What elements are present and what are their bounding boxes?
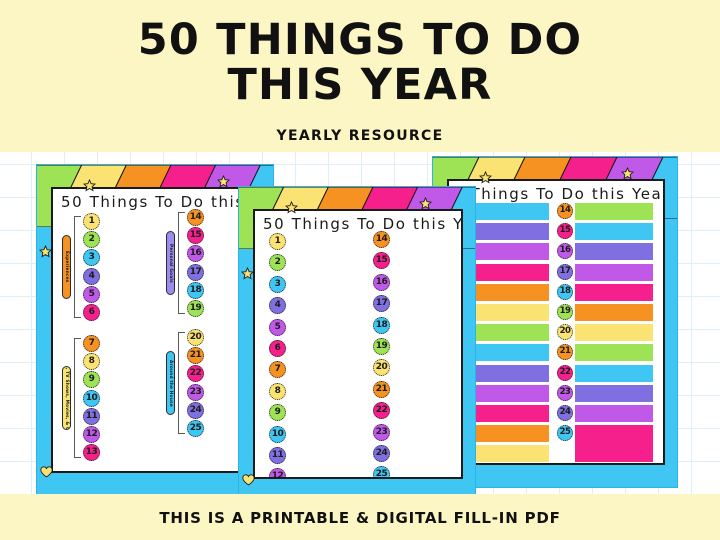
checklist-number-25[interactable]: 25 bbox=[373, 466, 390, 479]
page-subtitle: YEARLY RESOURCE bbox=[0, 128, 720, 144]
star-icon bbox=[83, 177, 96, 190]
printable-page[interactable]: 50 Things To Do this Year123456789101112… bbox=[253, 209, 463, 479]
checklist-number-23[interactable]: 23 bbox=[373, 424, 390, 441]
category-label: Personal Goals bbox=[166, 231, 175, 295]
checklist-number-4[interactable]: 4 bbox=[83, 268, 100, 285]
checklist-number-21[interactable]: 21 bbox=[373, 381, 390, 398]
checklist-number-2[interactable]: 2 bbox=[269, 254, 286, 271]
checklist-number-16[interactable]: 16 bbox=[557, 243, 573, 259]
checklist-number-5[interactable]: 5 bbox=[269, 319, 286, 336]
answer-bar[interactable] bbox=[575, 223, 653, 240]
checklist-number-8[interactable]: 8 bbox=[269, 383, 286, 400]
answer-bar[interactable] bbox=[465, 223, 549, 240]
group-bracket bbox=[178, 212, 185, 314]
answer-bar[interactable] bbox=[575, 385, 653, 402]
answer-bar[interactable] bbox=[575, 264, 653, 281]
checklist-number-20[interactable]: 20 bbox=[187, 329, 204, 346]
footer-caption: THIS IS A PRINTABLE & DIGITAL FILL-IN PD… bbox=[0, 509, 720, 527]
checklist-number-6[interactable]: 6 bbox=[83, 304, 100, 321]
answer-bar[interactable] bbox=[575, 324, 653, 341]
printable-page[interactable]: 0 Things To Do this Year1234567891011121… bbox=[447, 179, 665, 465]
checklist-number-16[interactable]: 16 bbox=[373, 274, 390, 291]
answer-bar[interactable] bbox=[465, 324, 549, 341]
checklist-number-15[interactable]: 15 bbox=[187, 227, 204, 244]
answer-bar[interactable] bbox=[575, 365, 653, 382]
answer-bar[interactable] bbox=[465, 203, 549, 220]
category-label: Books, TV Shows, Movies, & Games bbox=[62, 366, 71, 430]
answer-bar[interactable] bbox=[465, 284, 549, 301]
checklist-number-14[interactable]: 14 bbox=[557, 203, 573, 219]
checklist-number-21[interactable]: 21 bbox=[557, 344, 573, 360]
answer-bar[interactable] bbox=[465, 304, 549, 321]
checklist-number-18[interactable]: 18 bbox=[557, 284, 573, 300]
checklist-number-10[interactable]: 10 bbox=[83, 390, 100, 407]
checklist-number-25[interactable]: 25 bbox=[187, 420, 204, 437]
star-icon bbox=[479, 169, 492, 182]
checklist-number-23[interactable]: 23 bbox=[557, 385, 573, 401]
answer-bar[interactable] bbox=[465, 365, 549, 382]
checklist-number-1[interactable]: 1 bbox=[269, 233, 286, 250]
checklist-number-24[interactable]: 24 bbox=[187, 402, 204, 419]
checklist-number-20[interactable]: 20 bbox=[557, 324, 573, 340]
checklist-number-3[interactable]: 3 bbox=[83, 249, 100, 266]
answer-bar[interactable] bbox=[465, 425, 549, 442]
star-icon bbox=[285, 199, 298, 212]
answer-bar[interactable] bbox=[575, 425, 653, 462]
answer-bar[interactable] bbox=[465, 243, 549, 260]
checklist-number-10[interactable]: 10 bbox=[269, 426, 286, 443]
screenshot-stage: 50 Things To Do this Year123456Experienc… bbox=[0, 0, 720, 540]
printable-page[interactable]: 50 Things To Do this Year123456Experienc… bbox=[51, 187, 261, 473]
checklist-number-19[interactable]: 19 bbox=[373, 338, 390, 355]
answer-bar[interactable] bbox=[575, 344, 653, 361]
checklist-number-7[interactable]: 7 bbox=[83, 335, 100, 352]
checklist-number-11[interactable]: 11 bbox=[83, 408, 100, 425]
category-label: Experiences bbox=[62, 235, 71, 299]
checklist-number-2[interactable]: 2 bbox=[83, 231, 100, 248]
heart-icon bbox=[40, 463, 53, 475]
checklist-number-8[interactable]: 8 bbox=[83, 353, 100, 370]
checklist-number-15[interactable]: 15 bbox=[373, 252, 390, 269]
checklist-number-3[interactable]: 3 bbox=[269, 276, 286, 293]
checklist-number-17[interactable]: 17 bbox=[373, 295, 390, 312]
checklist-number-22[interactable]: 22 bbox=[557, 365, 573, 381]
checklist-number-18[interactable]: 18 bbox=[373, 317, 390, 334]
checklist-number-9[interactable]: 9 bbox=[269, 404, 286, 421]
checklist-number-19[interactable]: 19 bbox=[557, 304, 573, 320]
answer-bar[interactable] bbox=[465, 344, 549, 361]
category-label: Around the House bbox=[166, 351, 175, 415]
group-bracket bbox=[74, 216, 81, 318]
worksheet-heading: 50 Things To Do this Year bbox=[263, 215, 463, 233]
answer-bar[interactable] bbox=[465, 385, 549, 402]
checklist-number-17[interactable]: 17 bbox=[187, 264, 204, 281]
checklist-number-17[interactable]: 17 bbox=[557, 264, 573, 280]
checklist-number-1[interactable]: 1 bbox=[83, 213, 100, 230]
answer-bar[interactable] bbox=[575, 284, 653, 301]
star-icon bbox=[419, 195, 432, 208]
worksheet-heading: 50 Things To Do this Year bbox=[61, 193, 261, 211]
checklist-number-15[interactable]: 15 bbox=[557, 223, 573, 239]
checklist-number-14[interactable]: 14 bbox=[187, 209, 204, 226]
checklist-number-23[interactable]: 23 bbox=[187, 384, 204, 401]
checklist-number-6[interactable]: 6 bbox=[269, 340, 286, 357]
answer-bar[interactable] bbox=[575, 405, 653, 422]
star-icon bbox=[621, 165, 634, 178]
checklist-number-7[interactable]: 7 bbox=[269, 361, 286, 378]
checklist-number-4[interactable]: 4 bbox=[269, 297, 286, 314]
card-mid[interactable]: 50 Things To Do this Year123456789101112… bbox=[238, 186, 476, 504]
checklist-number-12[interactable]: 12 bbox=[83, 426, 100, 443]
checklist-number-20[interactable]: 20 bbox=[373, 359, 390, 376]
checklist-number-19[interactable]: 19 bbox=[187, 300, 204, 317]
group-bracket bbox=[178, 332, 185, 434]
checklist-number-24[interactable]: 24 bbox=[373, 445, 390, 462]
checklist-number-13[interactable]: 13 bbox=[83, 444, 100, 461]
answer-bar[interactable] bbox=[575, 304, 653, 321]
page-title: 50 THINGS TO DO THIS YEAR bbox=[0, 18, 720, 108]
answer-bar[interactable] bbox=[465, 445, 549, 462]
checklist-number-11[interactable]: 11 bbox=[269, 447, 286, 464]
checklist-number-25[interactable]: 25 bbox=[557, 425, 573, 441]
checklist-number-12[interactable]: 12 bbox=[269, 468, 286, 479]
star-icon bbox=[217, 173, 230, 186]
group-bracket bbox=[74, 338, 81, 458]
checklist-number-18[interactable]: 18 bbox=[187, 282, 204, 299]
worksheet-heading: 0 Things To Do this Year bbox=[453, 185, 665, 203]
checklist-number-9[interactable]: 9 bbox=[83, 371, 100, 388]
checklist-number-14[interactable]: 14 bbox=[373, 231, 390, 248]
checklist-number-5[interactable]: 5 bbox=[83, 286, 100, 303]
checklist-number-24[interactable]: 24 bbox=[557, 405, 573, 421]
answer-bar[interactable] bbox=[575, 203, 653, 220]
checklist-number-22[interactable]: 22 bbox=[187, 365, 204, 382]
answer-bar[interactable] bbox=[465, 405, 549, 422]
checklist-number-21[interactable]: 21 bbox=[187, 347, 204, 364]
answer-bar[interactable] bbox=[465, 264, 549, 281]
star-icon bbox=[241, 265, 254, 278]
checklist-number-16[interactable]: 16 bbox=[187, 245, 204, 262]
checklist-number-22[interactable]: 22 bbox=[373, 402, 390, 419]
answer-bar[interactable] bbox=[575, 243, 653, 260]
star-icon bbox=[39, 243, 52, 256]
heart-icon bbox=[242, 471, 255, 483]
